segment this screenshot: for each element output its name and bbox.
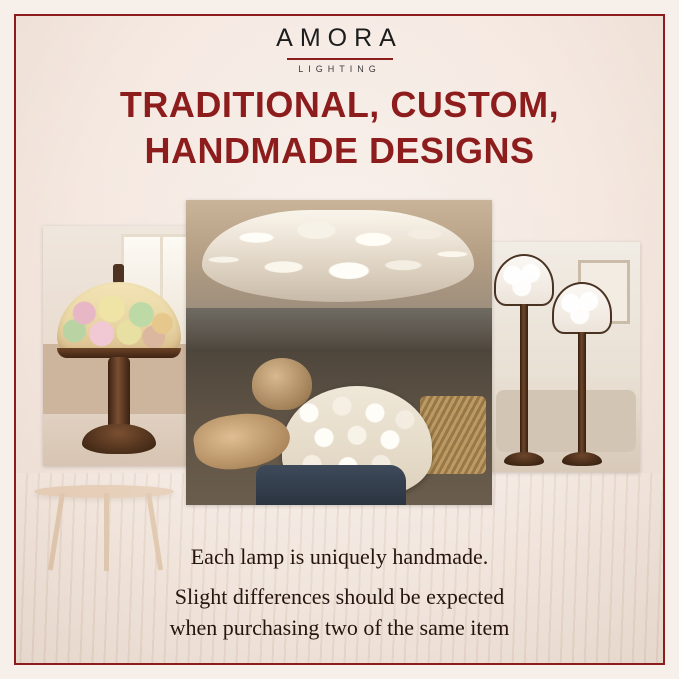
page-title: TRADITIONAL, CUSTOM, HANDMADE DESIGNS bbox=[0, 82, 679, 174]
caption-block: Each lamp is uniquely handmade. Slight d… bbox=[0, 540, 679, 643]
brand-name: AMORA bbox=[0, 26, 679, 51]
brand-divider bbox=[287, 58, 393, 60]
torchiere-base bbox=[504, 452, 544, 466]
artisan-work-area bbox=[186, 352, 492, 505]
lamp-finial bbox=[113, 264, 124, 284]
caption-line-3: when purchasing two of the same item bbox=[0, 612, 679, 643]
torchiere-base bbox=[562, 452, 602, 466]
photo-tiffany-table-lamp bbox=[43, 226, 203, 466]
caption-line-1: Each lamp is uniquely handmade. bbox=[0, 540, 679, 573]
artisan-head bbox=[252, 358, 312, 410]
photo-torchiere-floor-lamps bbox=[490, 242, 640, 472]
torchiere-floor-lamp bbox=[552, 242, 612, 472]
torchiere-floor-lamp bbox=[494, 242, 554, 472]
brand-tagline: LIGHTING bbox=[0, 65, 679, 74]
tiffany-table-lamp bbox=[55, 264, 183, 460]
product-infographic-poster: AMORA LIGHTING TRADITIONAL, CUSTOM, HAND… bbox=[0, 0, 679, 679]
photo-artisan-handmaking-shade bbox=[186, 200, 492, 505]
caption-line-2: Slight differences should be expected bbox=[0, 581, 679, 612]
brand-lockup: AMORA LIGHTING bbox=[0, 26, 679, 74]
lamp-base bbox=[82, 424, 156, 454]
torchiere-pole bbox=[578, 332, 586, 456]
headline-line-2: HANDMADE DESIGNS bbox=[0, 128, 679, 174]
torchiere-pole bbox=[520, 304, 528, 456]
lamp-stem bbox=[108, 357, 130, 429]
photo-collage bbox=[0, 200, 679, 520]
work-cloth bbox=[256, 465, 406, 505]
headline-line-1: TRADITIONAL, CUSTOM, bbox=[0, 82, 679, 128]
left-photo-room bbox=[43, 226, 203, 466]
torchiere-shade bbox=[494, 254, 554, 306]
torchiere-shade bbox=[552, 282, 612, 334]
lamp-stained-glass-shade bbox=[57, 282, 181, 356]
shell-pile bbox=[202, 210, 474, 302]
right-photo-room bbox=[490, 242, 640, 472]
center-photo-scene bbox=[186, 200, 492, 505]
